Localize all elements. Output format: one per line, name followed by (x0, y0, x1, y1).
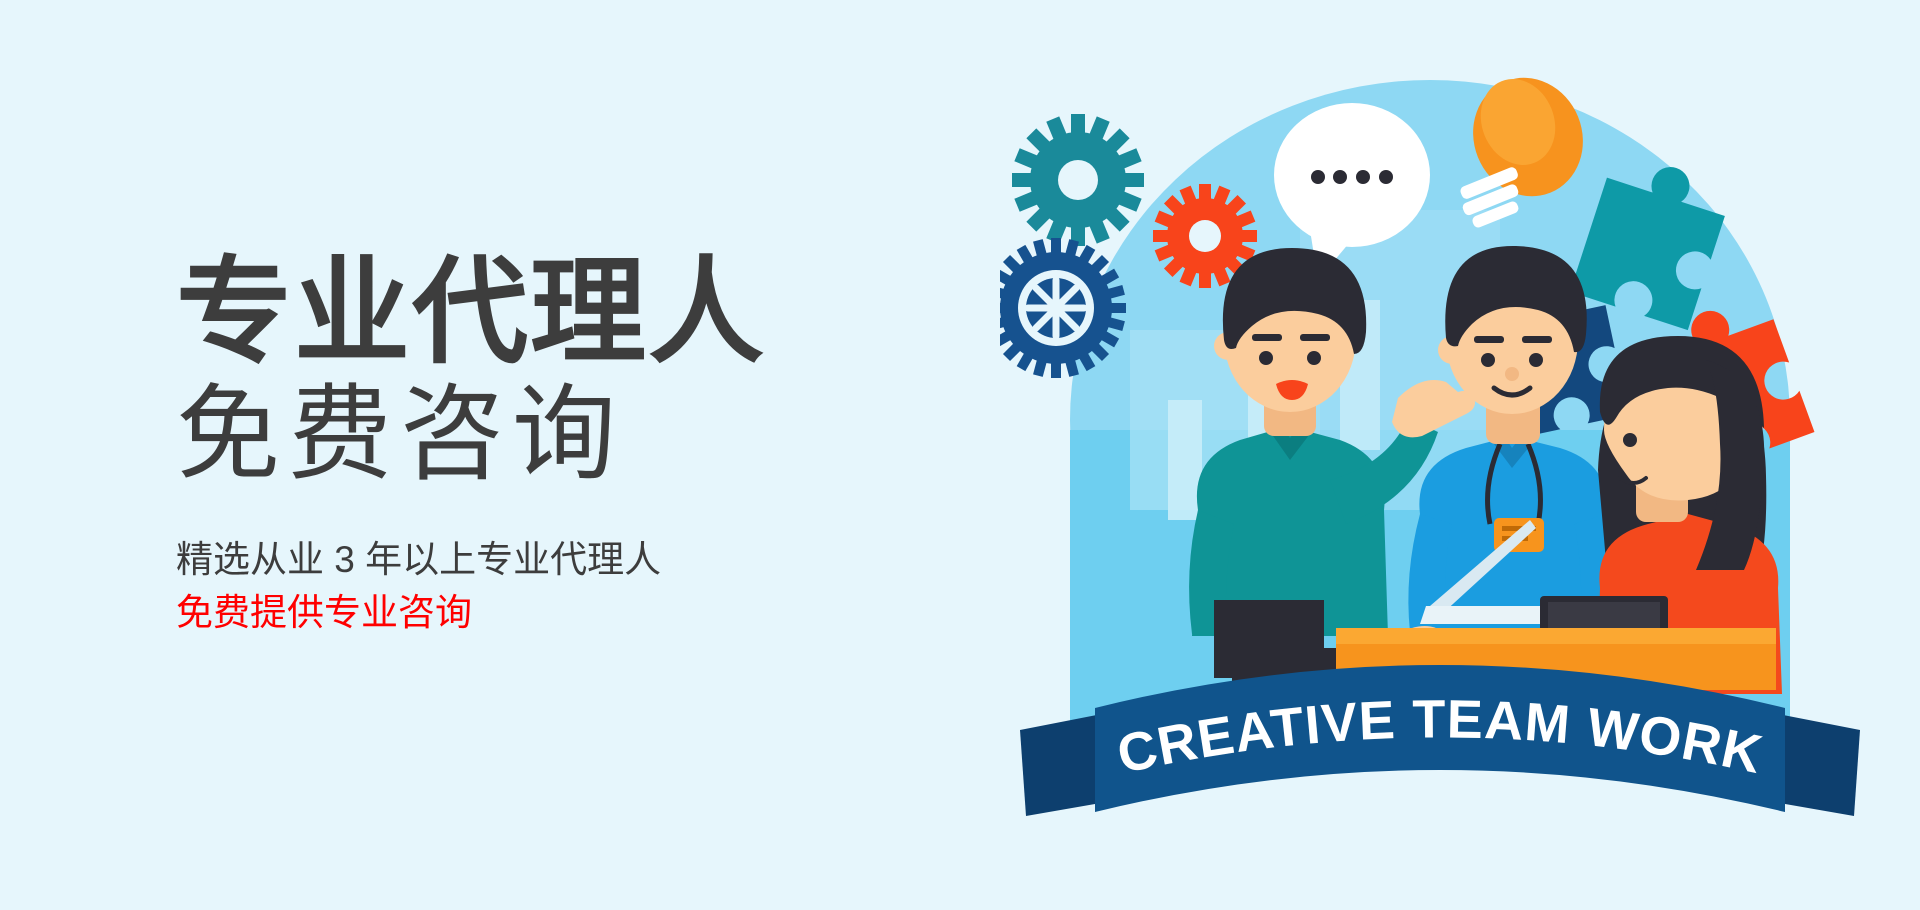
subtitle-block: 精选从业 3 年以上专业代理人 免费提供专业咨询 (176, 533, 916, 640)
page-title-line-2: 免费咨询 (176, 374, 916, 497)
copy-block: 专业代理人 免费咨询 精选从业 3 年以上专业代理人 免费提供专业咨询 (176, 252, 916, 640)
promo-banner: 专业代理人 免费咨询 精选从业 3 年以上专业代理人 免费提供专业咨询 (0, 0, 1920, 910)
subtitle-line-2: 免费提供专业咨询 (176, 586, 916, 640)
page-title-line-1: 专业代理人 (176, 252, 916, 374)
subtitle-line-1: 精选从业 3 年以上专业代理人 (176, 533, 916, 587)
teal-gear-icon (1012, 114, 1144, 246)
creative-team-work-illustration: CREATIVE TEAM WORK (1000, 40, 1880, 870)
